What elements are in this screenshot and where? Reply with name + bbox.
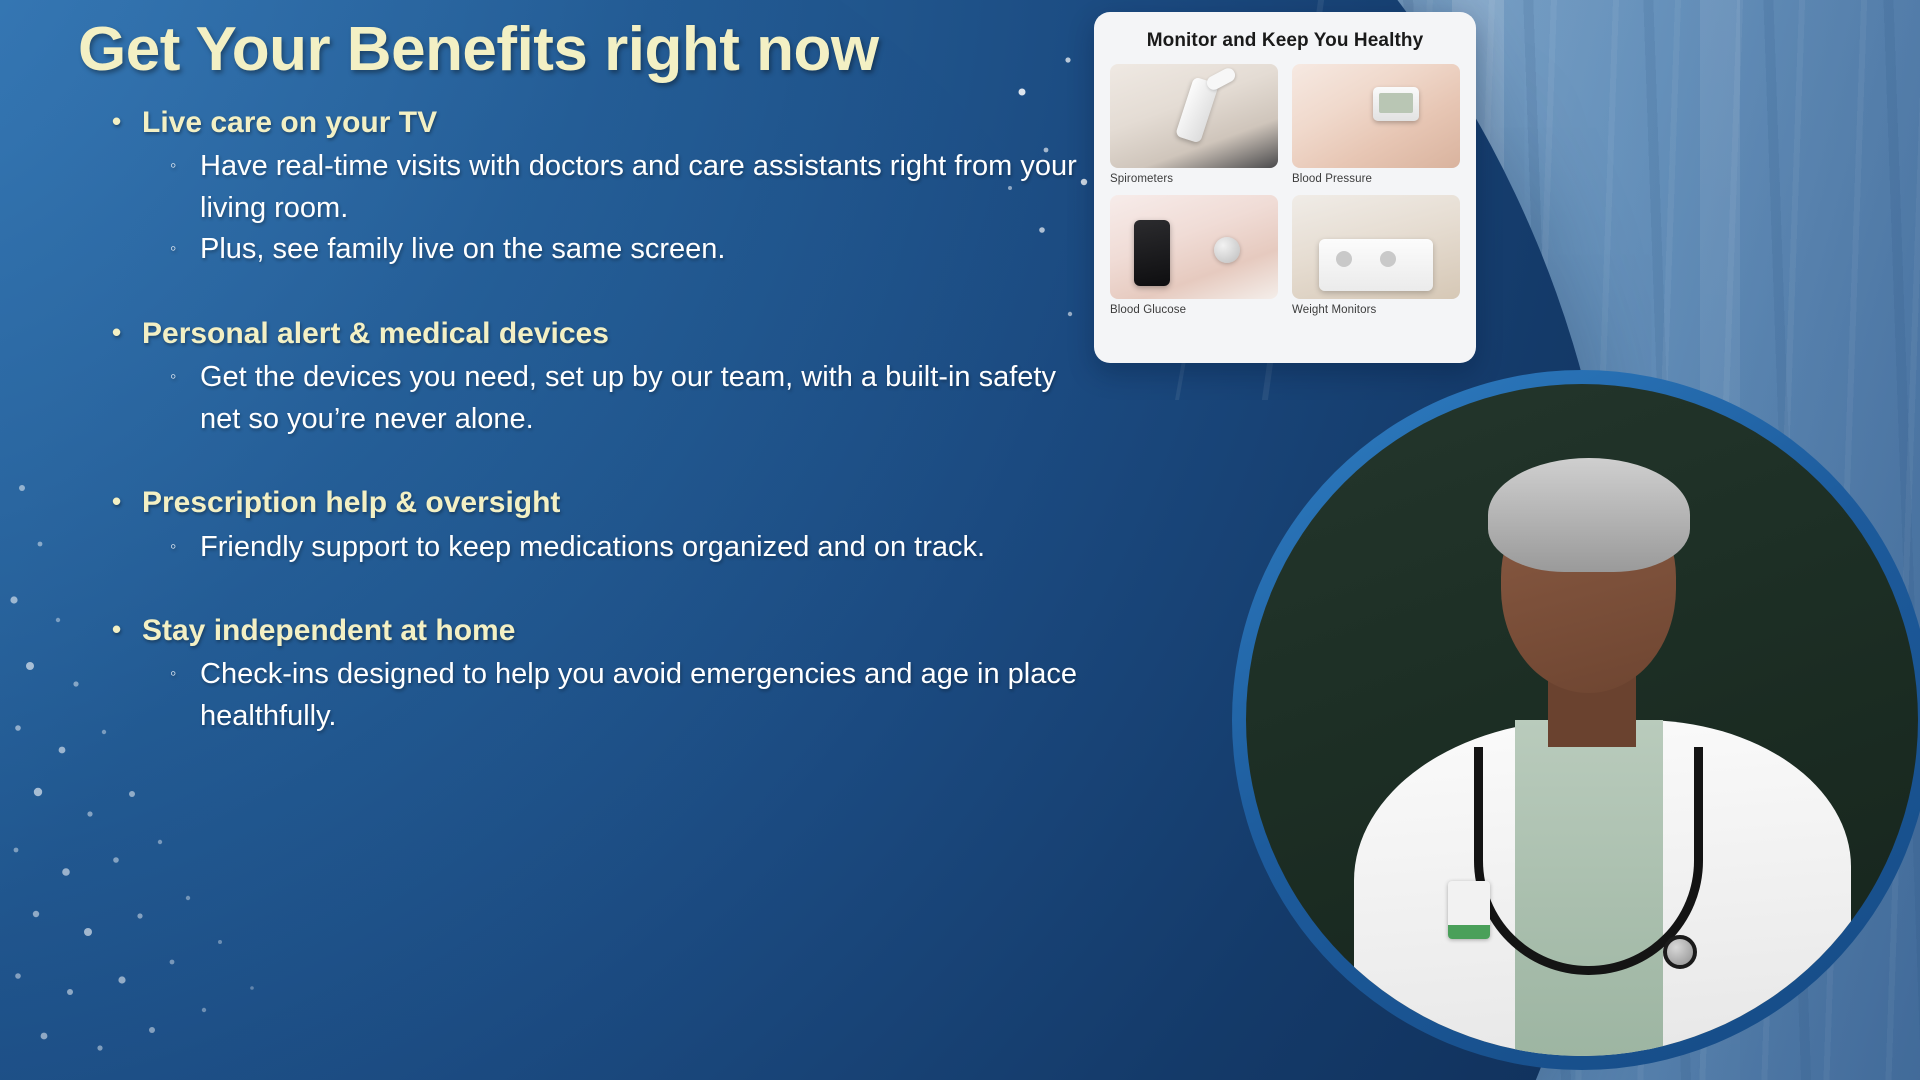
device-caption: Weight Monitors (1292, 304, 1460, 316)
device-item: Weight Monitors (1292, 195, 1460, 316)
benefit-detail: ◦ Check-ins designed to help you avoid e… (170, 654, 1092, 737)
smiling-doctor-photo (1246, 384, 1918, 1056)
benefit-detail: ◦ Plus, see family live on the same scre… (170, 229, 1092, 270)
portrait-clip (1232, 370, 1920, 1080)
device-caption: Spirometers (1110, 173, 1278, 185)
bullet-marker-icon: • (112, 484, 142, 519)
benefit-heading: • Personal alert & medical devices (112, 315, 1092, 353)
device-item: Blood Glucose (1110, 195, 1278, 316)
id-badge (1448, 881, 1490, 939)
weight-scale-photo (1292, 195, 1460, 299)
benefit-group: • Live care on your TV ◦ Have real-time … (112, 104, 1092, 271)
benefit-detail-label: Get the devices you need, set up by our … (200, 357, 1092, 440)
device-grid: Spirometers Blood Pressure Blood Glucose… (1110, 64, 1460, 316)
benefit-detail-label: Have real-time visits with doctors and c… (200, 146, 1092, 229)
benefit-group: • Prescription help & oversight ◦ Friend… (112, 484, 1092, 568)
stethoscope-chestpiece-icon (1663, 935, 1697, 969)
sub-bullet-marker-icon: ◦ (170, 146, 200, 186)
benefit-detail: ◦ Friendly support to keep medications o… (170, 527, 1092, 568)
benefit-heading: • Stay independent at home (112, 612, 1092, 650)
sub-bullet-marker-icon: ◦ (170, 357, 200, 397)
device-caption: Blood Glucose (1110, 304, 1278, 316)
benefit-heading: • Prescription help & oversight (112, 484, 1092, 522)
benefit-detail: ◦ Have real-time visits with doctors and… (170, 146, 1092, 229)
device-monitoring-card: Monitor and Keep You Healthy Spirometers… (1094, 12, 1476, 363)
benefits-list: • Live care on your TV ◦ Have real-time … (112, 104, 1092, 737)
benefit-detail-label: Friendly support to keep medications org… (200, 527, 1092, 568)
slide-title: Get Your Benefits right now (78, 14, 879, 85)
benefit-heading-label: Stay independent at home (142, 612, 515, 650)
device-caption: Blood Pressure (1292, 173, 1460, 185)
portrait-ring (1232, 370, 1920, 1070)
spirometer-photo (1110, 64, 1278, 168)
bullet-marker-icon: • (112, 315, 142, 350)
device-item: Spirometers (1110, 64, 1278, 185)
slide-canvas: Get Your Benefits right now • Live care … (0, 0, 1920, 1080)
sub-bullet-marker-icon: ◦ (170, 527, 200, 567)
benefit-group: • Stay independent at home ◦ Check-ins d… (112, 612, 1092, 737)
bullet-marker-icon: • (112, 104, 142, 139)
benefit-heading: • Live care on your TV (112, 104, 1092, 142)
benefit-detail-label: Check-ins designed to help you avoid eme… (200, 654, 1092, 737)
device-item: Blood Pressure (1292, 64, 1460, 185)
doctor-hair (1488, 458, 1690, 572)
benefit-detail: ◦ Get the devices you need, set up by ou… (170, 357, 1092, 440)
benefit-detail-label: Plus, see family live on the same screen… (200, 229, 1092, 270)
benefit-heading-label: Personal alert & medical devices (142, 315, 609, 353)
doctor-illustration (1246, 384, 1918, 1056)
benefit-heading-label: Prescription help & oversight (142, 484, 560, 522)
sub-bullet-marker-icon: ◦ (170, 229, 200, 269)
benefit-heading-label: Live care on your TV (142, 104, 437, 142)
blood-pressure-monitor-photo (1292, 64, 1460, 168)
bullet-marker-icon: • (112, 612, 142, 647)
device-card-title: Monitor and Keep You Healthy (1110, 30, 1460, 52)
blood-glucose-sensor-photo (1110, 195, 1278, 299)
benefit-group: • Personal alert & medical devices ◦ Get… (112, 315, 1092, 440)
sub-bullet-marker-icon: ◦ (170, 654, 200, 694)
